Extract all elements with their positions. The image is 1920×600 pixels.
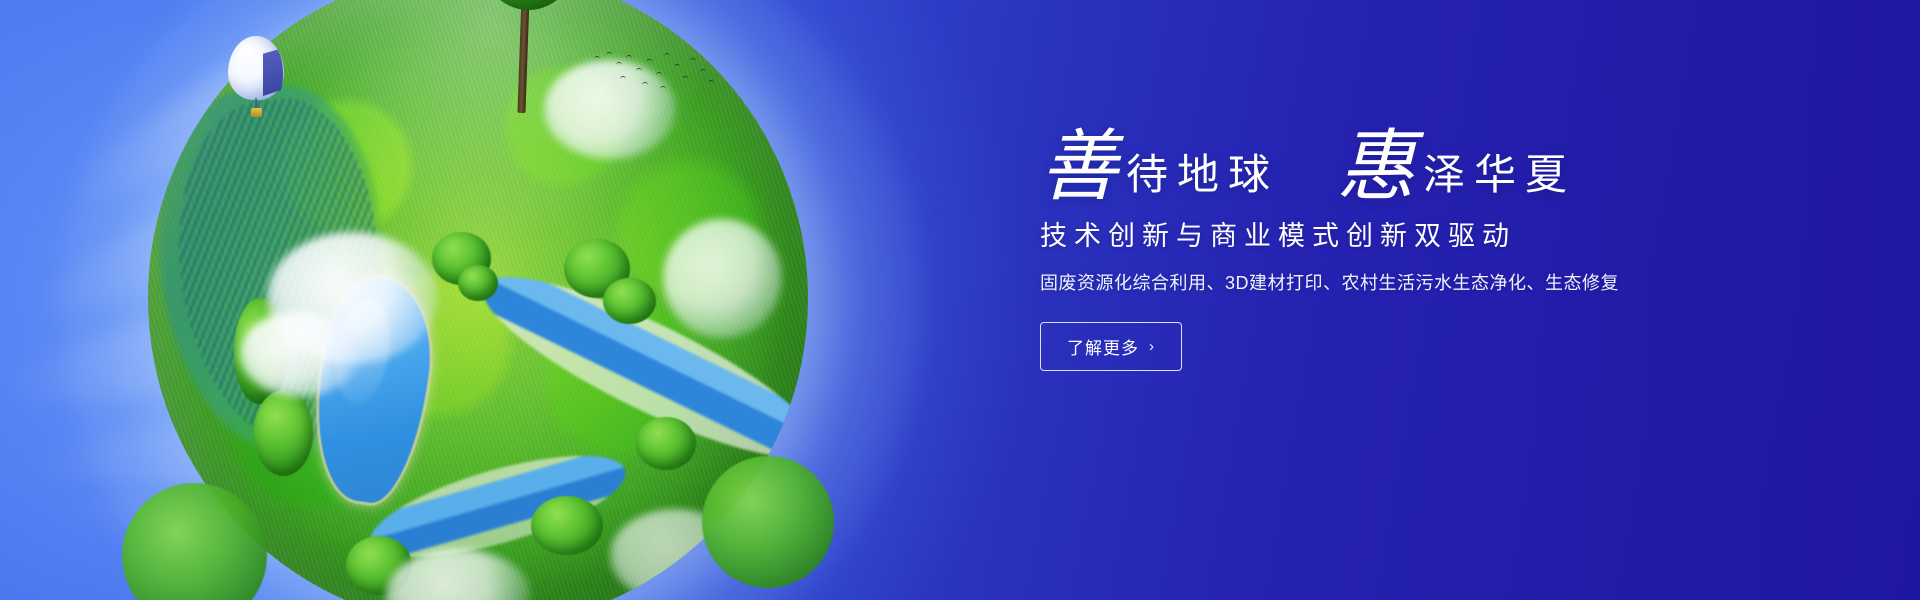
chevron-right-icon: › [1149,338,1155,355]
headline-part2-small: 泽华夏 [1423,155,1576,197]
headline: 善 待地球 惠 泽华夏 [1040,128,1800,206]
headline-part1-big: 善 [1040,128,1118,206]
hero-banner: 善 待地球 惠 泽华夏 技术创新与商业模式创新双驱动 固废资源化综合利用、3D建… [0,0,1920,600]
balloon-basket [251,108,262,117]
description: 固废资源化综合利用、3D建材打印、农村生活污水生态净化、生态修复 [1040,272,1800,295]
banner-content: 善 待地球 惠 泽华夏 技术创新与商业模式创新双驱动 固废资源化综合利用、3D建… [1040,128,1800,371]
tree-canopy [702,456,834,588]
bird-flock-icon [590,50,720,96]
small-tree-icon [122,483,267,600]
small-tree-icon [702,456,834,588]
headline-part1-small: 待地球 [1126,155,1279,197]
learn-more-button[interactable]: 了解更多 › [1040,322,1182,371]
tree-trunk [517,0,530,113]
hot-air-balloon-icon [228,36,286,122]
balloon-stripe [263,48,283,96]
headline-part2-big: 惠 [1337,128,1415,206]
tree-canopy [122,483,267,600]
subtitle: 技术创新与商业模式创新双驱动 [1040,220,1800,252]
learn-more-label: 了解更多 [1067,334,1139,359]
tree-canopy [477,0,580,10]
